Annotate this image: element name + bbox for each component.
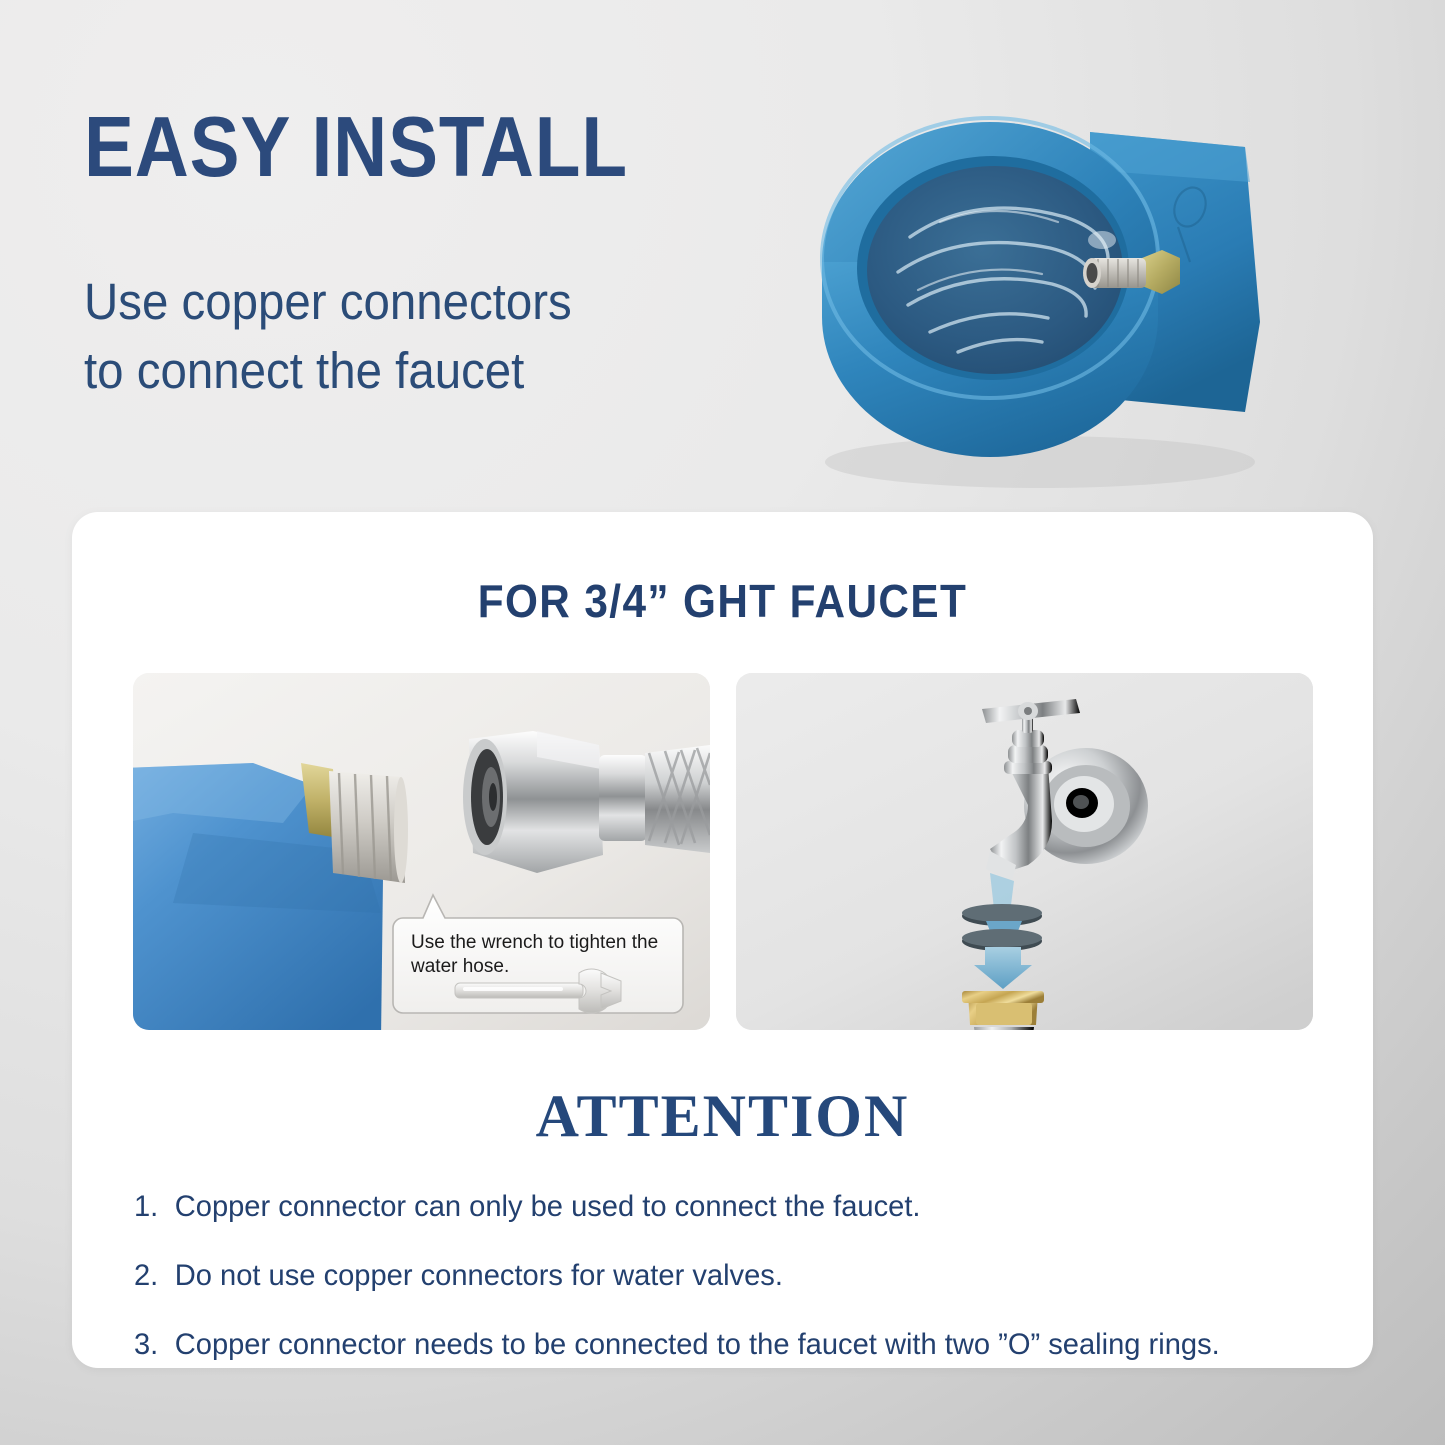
page-subtitle: Use copper connectors to connect the fau…	[84, 268, 572, 406]
callout-line-2: water hose.	[410, 956, 509, 977]
list-item: 3. Copper connector needs to be connecte…	[134, 1322, 1297, 1367]
note-number: 3.	[134, 1322, 175, 1367]
note-number: 1.	[134, 1184, 175, 1229]
faucet-assembly-photo	[736, 673, 1313, 1030]
subtitle-line-2: to connect the faucet	[84, 337, 572, 406]
photo-panels: Use the wrench to tighten the water hose…	[133, 673, 1313, 1030]
page-title: EASY INSTALL	[84, 108, 628, 189]
infographic-page: EASY INSTALL Use copper connectors to co…	[0, 0, 1445, 1445]
list-item: 1. Copper connector can only be used to …	[134, 1184, 1297, 1229]
list-item: 2. Do not use copper connectors for wate…	[134, 1253, 1297, 1298]
note-text: Copper connector can only be used to con…	[175, 1184, 1297, 1229]
subtitle-line-1: Use copper connectors	[84, 268, 572, 337]
hero-product-image	[790, 62, 1290, 492]
attention-notes-list: 1. Copper connector can only be used to …	[134, 1184, 1333, 1391]
callout-line-1: Use the wrench to tighten the	[411, 932, 658, 953]
hose-connection-photo: Use the wrench to tighten the water hose…	[133, 673, 710, 1030]
note-number: 2.	[134, 1253, 175, 1298]
note-text: Do not use copper connectors for water v…	[175, 1253, 1297, 1298]
card-title: FOR 3/4” GHT FAUCET	[124, 574, 1321, 628]
note-text: Copper connector needs to be connected t…	[175, 1322, 1297, 1367]
attention-heading: ATTENTION	[72, 1082, 1373, 1151]
install-card: FOR 3/4” GHT FAUCET	[72, 512, 1373, 1368]
